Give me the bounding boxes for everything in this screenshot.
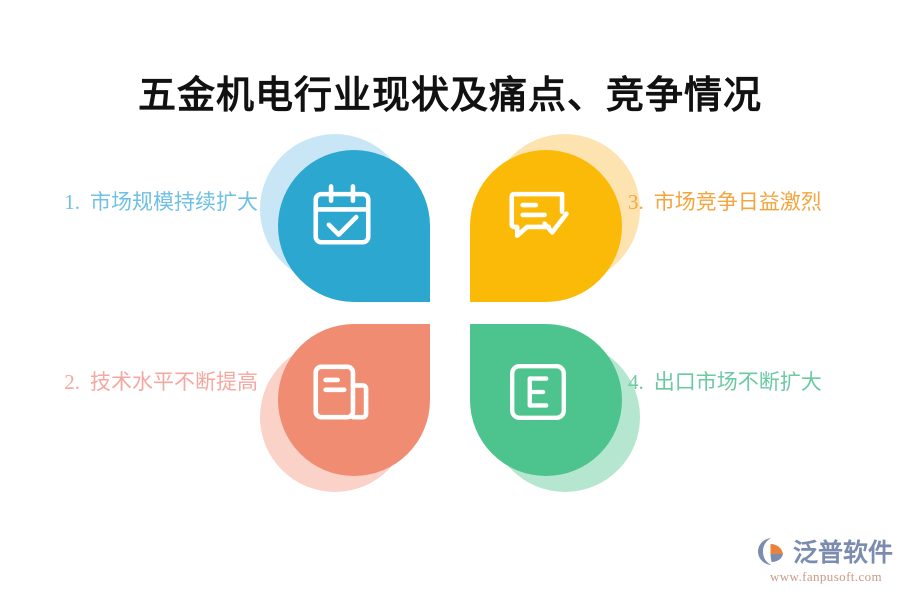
comment-check-icon (462, 140, 614, 292)
petal-top-right[interactable] (460, 140, 632, 312)
petal-bottom-left[interactable] (268, 314, 440, 486)
fanpu-arc-icon (758, 536, 790, 566)
caption-1-number: 1. (64, 190, 80, 214)
caption-1-text: 市场规模持续扩大 (90, 190, 258, 214)
caption-2-number: 2. (64, 370, 80, 394)
infographic-canvas: 五金机电行业现状及痛点、竞争情况 (0, 0, 900, 600)
caption-3: 3.市场竞争日益激烈 (628, 192, 880, 213)
caption-2-text: 技术水平不断提高 (90, 370, 258, 394)
caption-1: 1.市场规模持续扩大 (20, 192, 258, 213)
book-icon (266, 316, 418, 468)
letter-e-box-icon (462, 316, 614, 468)
petal-cluster (268, 140, 632, 486)
caption-4-number: 4. (628, 370, 644, 394)
watermark-logo: 泛普软件 www.fanpusoft.com (758, 534, 894, 590)
caption-4: 4.出口市场不断扩大 (628, 372, 880, 393)
page-title: 五金机电行业现状及痛点、竞争情况 (0, 64, 900, 119)
logo-url: www.fanpusoft.com (758, 569, 894, 585)
logo-name: 泛普软件 (793, 533, 893, 569)
logo-row: 泛普软件 (758, 534, 894, 568)
caption-3-number: 3. (628, 190, 644, 214)
petal-bottom-right[interactable] (460, 314, 632, 486)
caption-4-text: 出口市场不断扩大 (654, 370, 822, 394)
caption-3-text: 市场竞争日益激烈 (654, 190, 822, 214)
caption-2: 2.技术水平不断提高 (20, 372, 258, 393)
calendar-check-icon (266, 140, 418, 292)
petal-top-left[interactable] (268, 140, 440, 312)
